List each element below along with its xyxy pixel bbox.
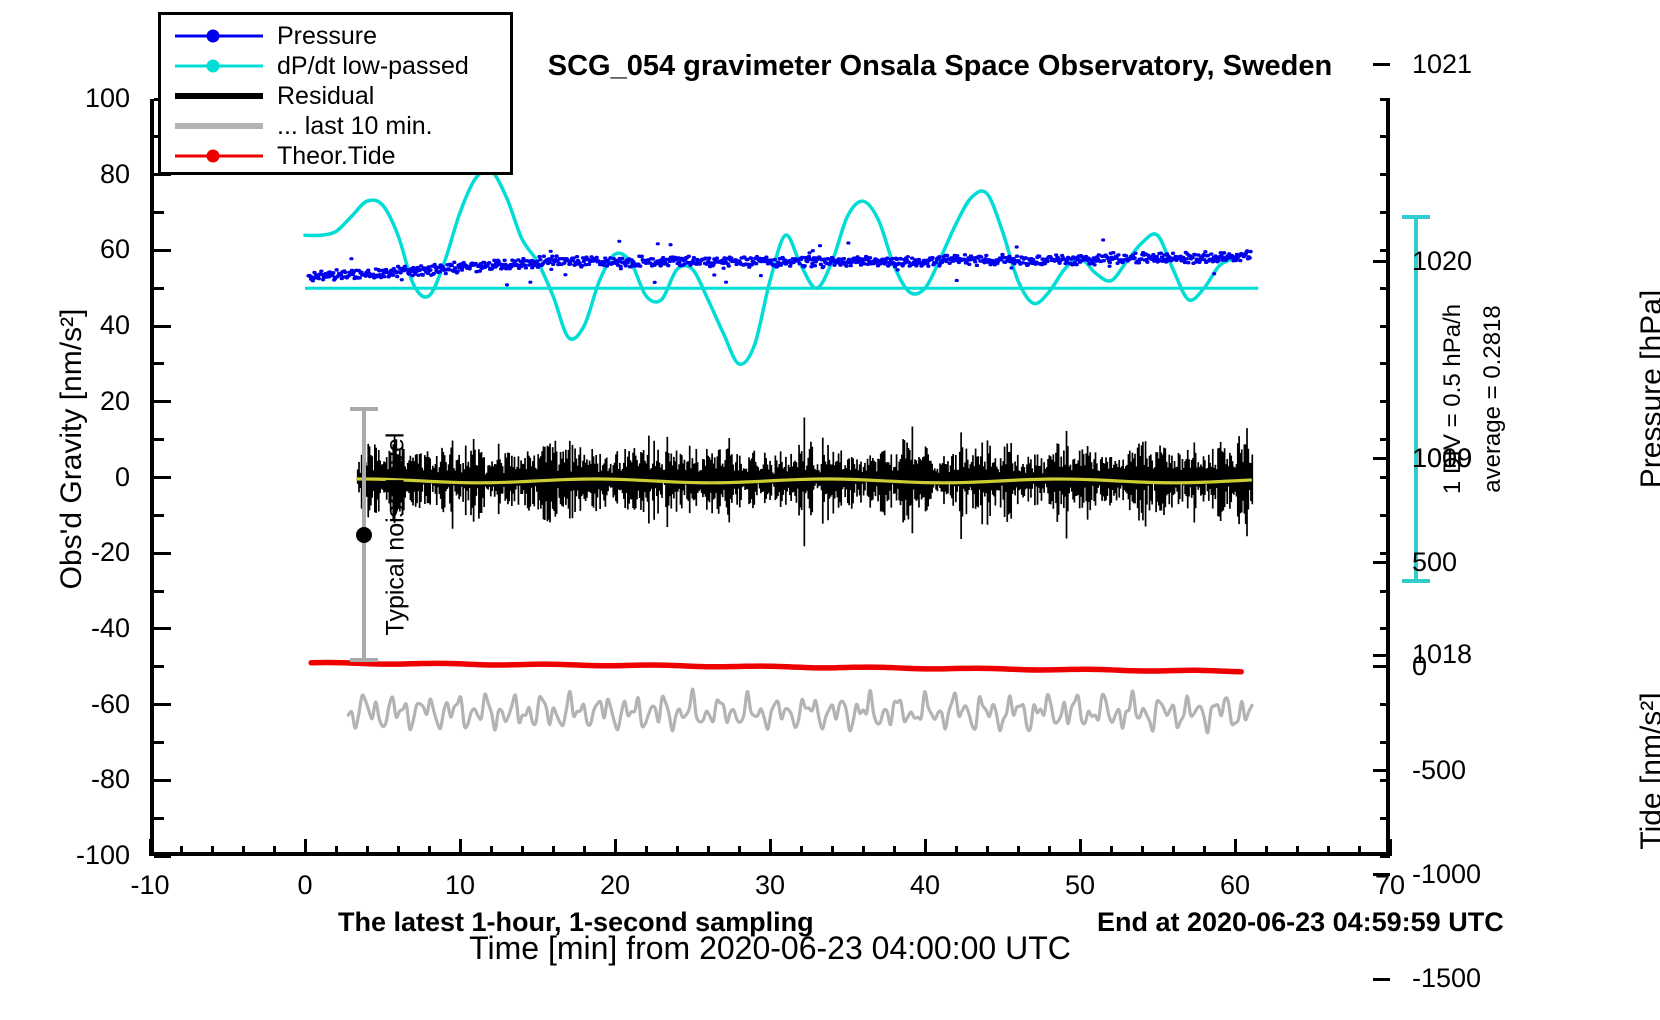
x-tick-label: 30 xyxy=(725,870,815,901)
x-tick-label: 0 xyxy=(260,870,350,901)
legend-label: Pressure xyxy=(277,22,377,51)
y-tick-label-left: 80 xyxy=(10,159,130,190)
pressure-label: 1021 xyxy=(1412,49,1472,80)
legend-marker-dot xyxy=(207,60,220,73)
tide-label: 1000 xyxy=(1412,443,1472,474)
noise-errorbar-cap-bottom xyxy=(350,658,378,662)
y-tick-label-left: 40 xyxy=(10,310,130,341)
x-axis-title: Time [min] from 2020-06-23 04:00:00 UTC xyxy=(469,930,1071,967)
tide-label: 500 xyxy=(1412,547,1457,578)
x-tick-label: 40 xyxy=(880,870,970,901)
y-axis-tide-title: Tide [nm/s²] xyxy=(1635,692,1660,849)
series-canvas xyxy=(150,99,1390,856)
legend-swatch xyxy=(175,141,263,171)
legend-label: ... last 10 min. xyxy=(277,112,433,141)
tide-label: 0 xyxy=(1412,651,1427,682)
x-tick-label: 60 xyxy=(1190,870,1280,901)
legend-swatch xyxy=(175,81,263,111)
div-scale-cap-top xyxy=(1402,215,1430,219)
x-tick-label: -10 xyxy=(105,870,195,901)
legend-item: Pressure xyxy=(161,21,510,51)
legend: PressuredP/dt low-passedResidual... last… xyxy=(158,12,513,175)
noise-errorbar-cap-top xyxy=(350,407,378,411)
tide-tick xyxy=(1373,978,1390,981)
legend-item: Residual xyxy=(161,81,510,111)
legend-line xyxy=(175,123,263,129)
tide-label: -1500 xyxy=(1412,963,1481,994)
legend-swatch xyxy=(175,51,263,81)
typical-noise-level-marker: Typical noise level xyxy=(346,399,466,669)
pressure-label: 1020 xyxy=(1412,246,1472,277)
tide-label: -500 xyxy=(1412,755,1466,786)
legend-item: dP/dt low-passed xyxy=(161,51,510,81)
x-tick-label: 70 xyxy=(1345,870,1435,901)
x-tick-label: 20 xyxy=(570,870,660,901)
page-title: SCG_054 gravimeter Onsala Space Observat… xyxy=(548,50,1332,83)
y-tick-label-left: -60 xyxy=(10,689,130,720)
div-average-label: average = 0.2818 xyxy=(1479,305,1507,493)
legend-item: Theor.Tide xyxy=(161,141,510,171)
y-tick-label-left: 20 xyxy=(10,386,130,417)
legend-swatch xyxy=(175,111,263,141)
legend-swatch xyxy=(175,21,263,51)
noise-level-label: Typical noise level xyxy=(382,433,411,636)
legend-label: Theor.Tide xyxy=(277,142,396,171)
y-tick-label-left: 60 xyxy=(10,234,130,265)
y-tick-label-left: -80 xyxy=(10,764,130,795)
x-tick-label: 50 xyxy=(1035,870,1125,901)
y-tick-label-left: -20 xyxy=(10,537,130,568)
y-tick-label-left: 0 xyxy=(10,462,130,493)
y-tick-label-left: 100 xyxy=(10,83,130,114)
y-tick-label-left: -40 xyxy=(10,613,130,644)
y-tick-label-left: -100 xyxy=(10,840,130,871)
y-axis-pressure-title: Pressure [hPa] xyxy=(1635,290,1660,488)
noise-center-dot xyxy=(356,527,372,543)
series-residual xyxy=(358,417,1253,546)
legend-label: Residual xyxy=(277,82,374,111)
legend-label: dP/dt low-passed xyxy=(277,52,469,81)
legend-line xyxy=(175,93,263,99)
plot-area: Typical noise level 1 DIV = 0.5 hPa/h av… xyxy=(150,99,1390,856)
end-time-note: End at 2020-06-23 04:59:59 UTC xyxy=(1097,907,1504,938)
series-last-10-min xyxy=(348,689,1252,733)
legend-item: ... last 10 min. xyxy=(161,111,510,141)
pressure-tick xyxy=(1373,63,1390,66)
legend-marker-dot xyxy=(207,150,220,163)
chart-root: SCG_054 gravimeter Onsala Space Observat… xyxy=(0,0,1660,1020)
legend-marker-dot xyxy=(207,30,220,43)
div-scale-cap-bottom xyxy=(1402,579,1430,583)
x-tick-label: 10 xyxy=(415,870,505,901)
